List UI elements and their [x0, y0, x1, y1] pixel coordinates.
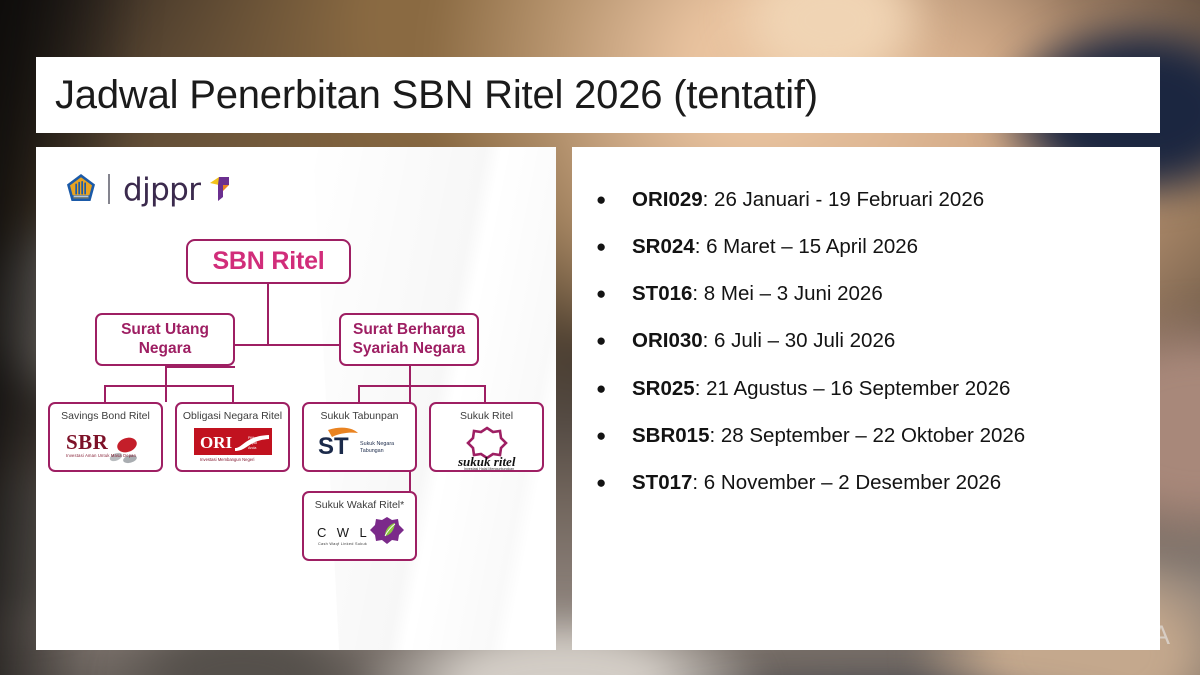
node-sukuk-wakaf-ritel-caption: Sukuk Wakaf Ritel* — [315, 500, 404, 512]
schedule-code: ORI029 — [632, 188, 703, 211]
svg-text:Investasi Membangun Negeri: Investasi Membangun Negeri — [200, 457, 255, 462]
bullet-icon: ● — [596, 189, 632, 210]
svg-text:Investasi Aman Untuk Masa Depa: Investasi Aman Untuk Masa Depan — [66, 453, 137, 458]
schedule-period: : 6 Juli – 30 Juli 2026 — [703, 329, 896, 352]
list-item: ● SBR015: 28 September – 22 Oktober 2026 — [596, 423, 1142, 449]
bullet-icon: ● — [596, 378, 632, 399]
node-surat-berharga-syariah-negara-label: Surat Berharga Syariah Negara — [341, 321, 477, 358]
connector-level2-horizontal — [235, 344, 340, 346]
node-sukuk-wakaf-ritel: Sukuk Wakaf Ritel* C W L S Cash Waqf Lin… — [302, 491, 417, 561]
node-surat-utang-negara-label: Surat Utang Negara — [97, 321, 233, 358]
bullet-icon: ● — [596, 472, 632, 493]
schedule-code: ST017 — [632, 471, 692, 494]
schedule-card: ● ORI029: 26 Januari - 19 Februari 2026 … — [572, 147, 1160, 650]
node-savings-bond-ritel-caption: Savings Bond Ritel — [61, 411, 150, 423]
svg-text:Investasi Halal Menguntungkan: Investasi Halal Menguntungkan — [464, 467, 514, 470]
sukuk-ritel-logo-icon: sukuk ritel Investasi Halal Menguntungka… — [444, 426, 530, 470]
node-sbn-ritel-label: SBN Ritel — [212, 247, 324, 276]
bullet-icon: ● — [596, 236, 632, 257]
node-sukuk-ritel-caption: Sukuk Ritel — [460, 411, 513, 423]
schedule-list: ● ORI029: 26 Januari - 19 Februari 2026 … — [596, 187, 1142, 495]
schedule-period: : 21 Agustus – 16 September 2026 — [695, 377, 1011, 400]
node-savings-bond-ritel: Savings Bond Ritel SBR Investasi Aman Un… — [48, 402, 163, 472]
schedule-code: SR025 — [632, 377, 695, 400]
connector-sun-down — [165, 366, 167, 402]
node-surat-berharga-syariah-negara: Surat Berharga Syariah Negara — [339, 313, 479, 366]
connector-st-drop — [358, 385, 360, 402]
diagram-card: djppr SBN Ritel Surat Utang Negara — [36, 147, 556, 650]
connector-sukukritel-drop — [484, 385, 486, 402]
connector-sbsn-bus — [358, 385, 486, 387]
svg-text:Pilihan: Pilihan — [248, 436, 259, 440]
org-chart: SBN Ritel Surat Utang Negara Surat Berha… — [36, 147, 556, 650]
node-surat-utang-negara: Surat Utang Negara — [95, 313, 235, 366]
connector-sun-bus — [104, 385, 234, 387]
node-sukuk-ritel: Sukuk Ritel sukuk ritel Investasi Halal … — [429, 402, 544, 472]
connector-sun-stub — [165, 366, 235, 368]
list-item: ● ST016: 8 Mei – 3 Juni 2026 — [596, 281, 1142, 307]
title-card: Jadwal Penerbitan SBN Ritel 2026 (tentat… — [36, 57, 1160, 133]
connector-root-down — [267, 284, 269, 346]
bullet-icon: ● — [596, 425, 632, 446]
bullet-icon: ● — [596, 283, 632, 304]
node-sbn-ritel: SBN Ritel — [186, 239, 351, 284]
list-item: ● ORI029: 26 Januari - 19 Februari 2026 — [596, 187, 1142, 213]
list-item: ● SR025: 21 Agustus – 16 September 2026 — [596, 376, 1142, 402]
svg-text:Tabungan: Tabungan — [360, 448, 384, 454]
node-obligasi-negara-ritel: Obligasi Negara Ritel ORI Pilihan Tepat … — [175, 402, 290, 472]
list-item: ● SR024: 6 Maret – 15 April 2026 — [596, 234, 1142, 260]
svg-text:ORI: ORI — [200, 433, 233, 452]
schedule-code: ORI030 — [632, 329, 703, 352]
list-item: ● ORI030: 6 Juli – 30 Juli 2026 — [596, 328, 1142, 354]
svg-text:Anda: Anda — [248, 446, 256, 450]
schedule-code: SR024 — [632, 235, 695, 258]
schedule-period: : 6 November – 2 Desember 2026 — [692, 471, 1001, 494]
connector-sbr-drop — [104, 385, 106, 402]
page-title: Jadwal Penerbitan SBN Ritel 2026 (tentat… — [36, 73, 818, 118]
schedule-code: ST016 — [632, 282, 692, 305]
sbr-logo-icon: SBR Investasi Aman Untuk Masa Depan — [60, 426, 152, 466]
schedule-period: : 8 Mei – 3 Juni 2026 — [692, 282, 882, 305]
svg-text:Sukuk Negara: Sukuk Negara — [360, 441, 394, 447]
node-sukuk-tabungan: Sukuk Tabunpan ST Sukuk Negara Tabungan — [302, 402, 417, 472]
svg-text:SBR: SBR — [66, 430, 109, 454]
node-sukuk-tabungan-caption: Sukuk Tabunpan — [320, 411, 398, 423]
sukuk-tabungan-logo-icon: ST Sukuk Negara Tabungan — [314, 426, 406, 462]
schedule-period: : 6 Maret – 15 April 2026 — [695, 235, 918, 258]
node-obligasi-negara-ritel-caption: Obligasi Negara Ritel — [183, 411, 282, 423]
svg-text:Cash Waqf Linked Sukuk: Cash Waqf Linked Sukuk — [318, 542, 367, 546]
cwls-logo-icon: C W L S Cash Waqf Linked Sukuk — [313, 515, 407, 555]
ori-logo-icon: ORI Pilihan Tepat Anda Investasi Membang… — [191, 426, 275, 466]
svg-text:ST: ST — [318, 433, 349, 460]
svg-text:Tepat: Tepat — [248, 441, 257, 445]
schedule-code: SBR015 — [632, 424, 710, 447]
schedule-period: : 28 September – 22 Oktober 2026 — [710, 424, 1026, 447]
schedule-period: : 26 Januari - 19 Februari 2026 — [703, 188, 984, 211]
bullet-icon: ● — [596, 330, 632, 351]
connector-ori-drop — [232, 385, 234, 402]
list-item: ● ST017: 6 November – 2 Desember 2026 — [596, 470, 1142, 496]
